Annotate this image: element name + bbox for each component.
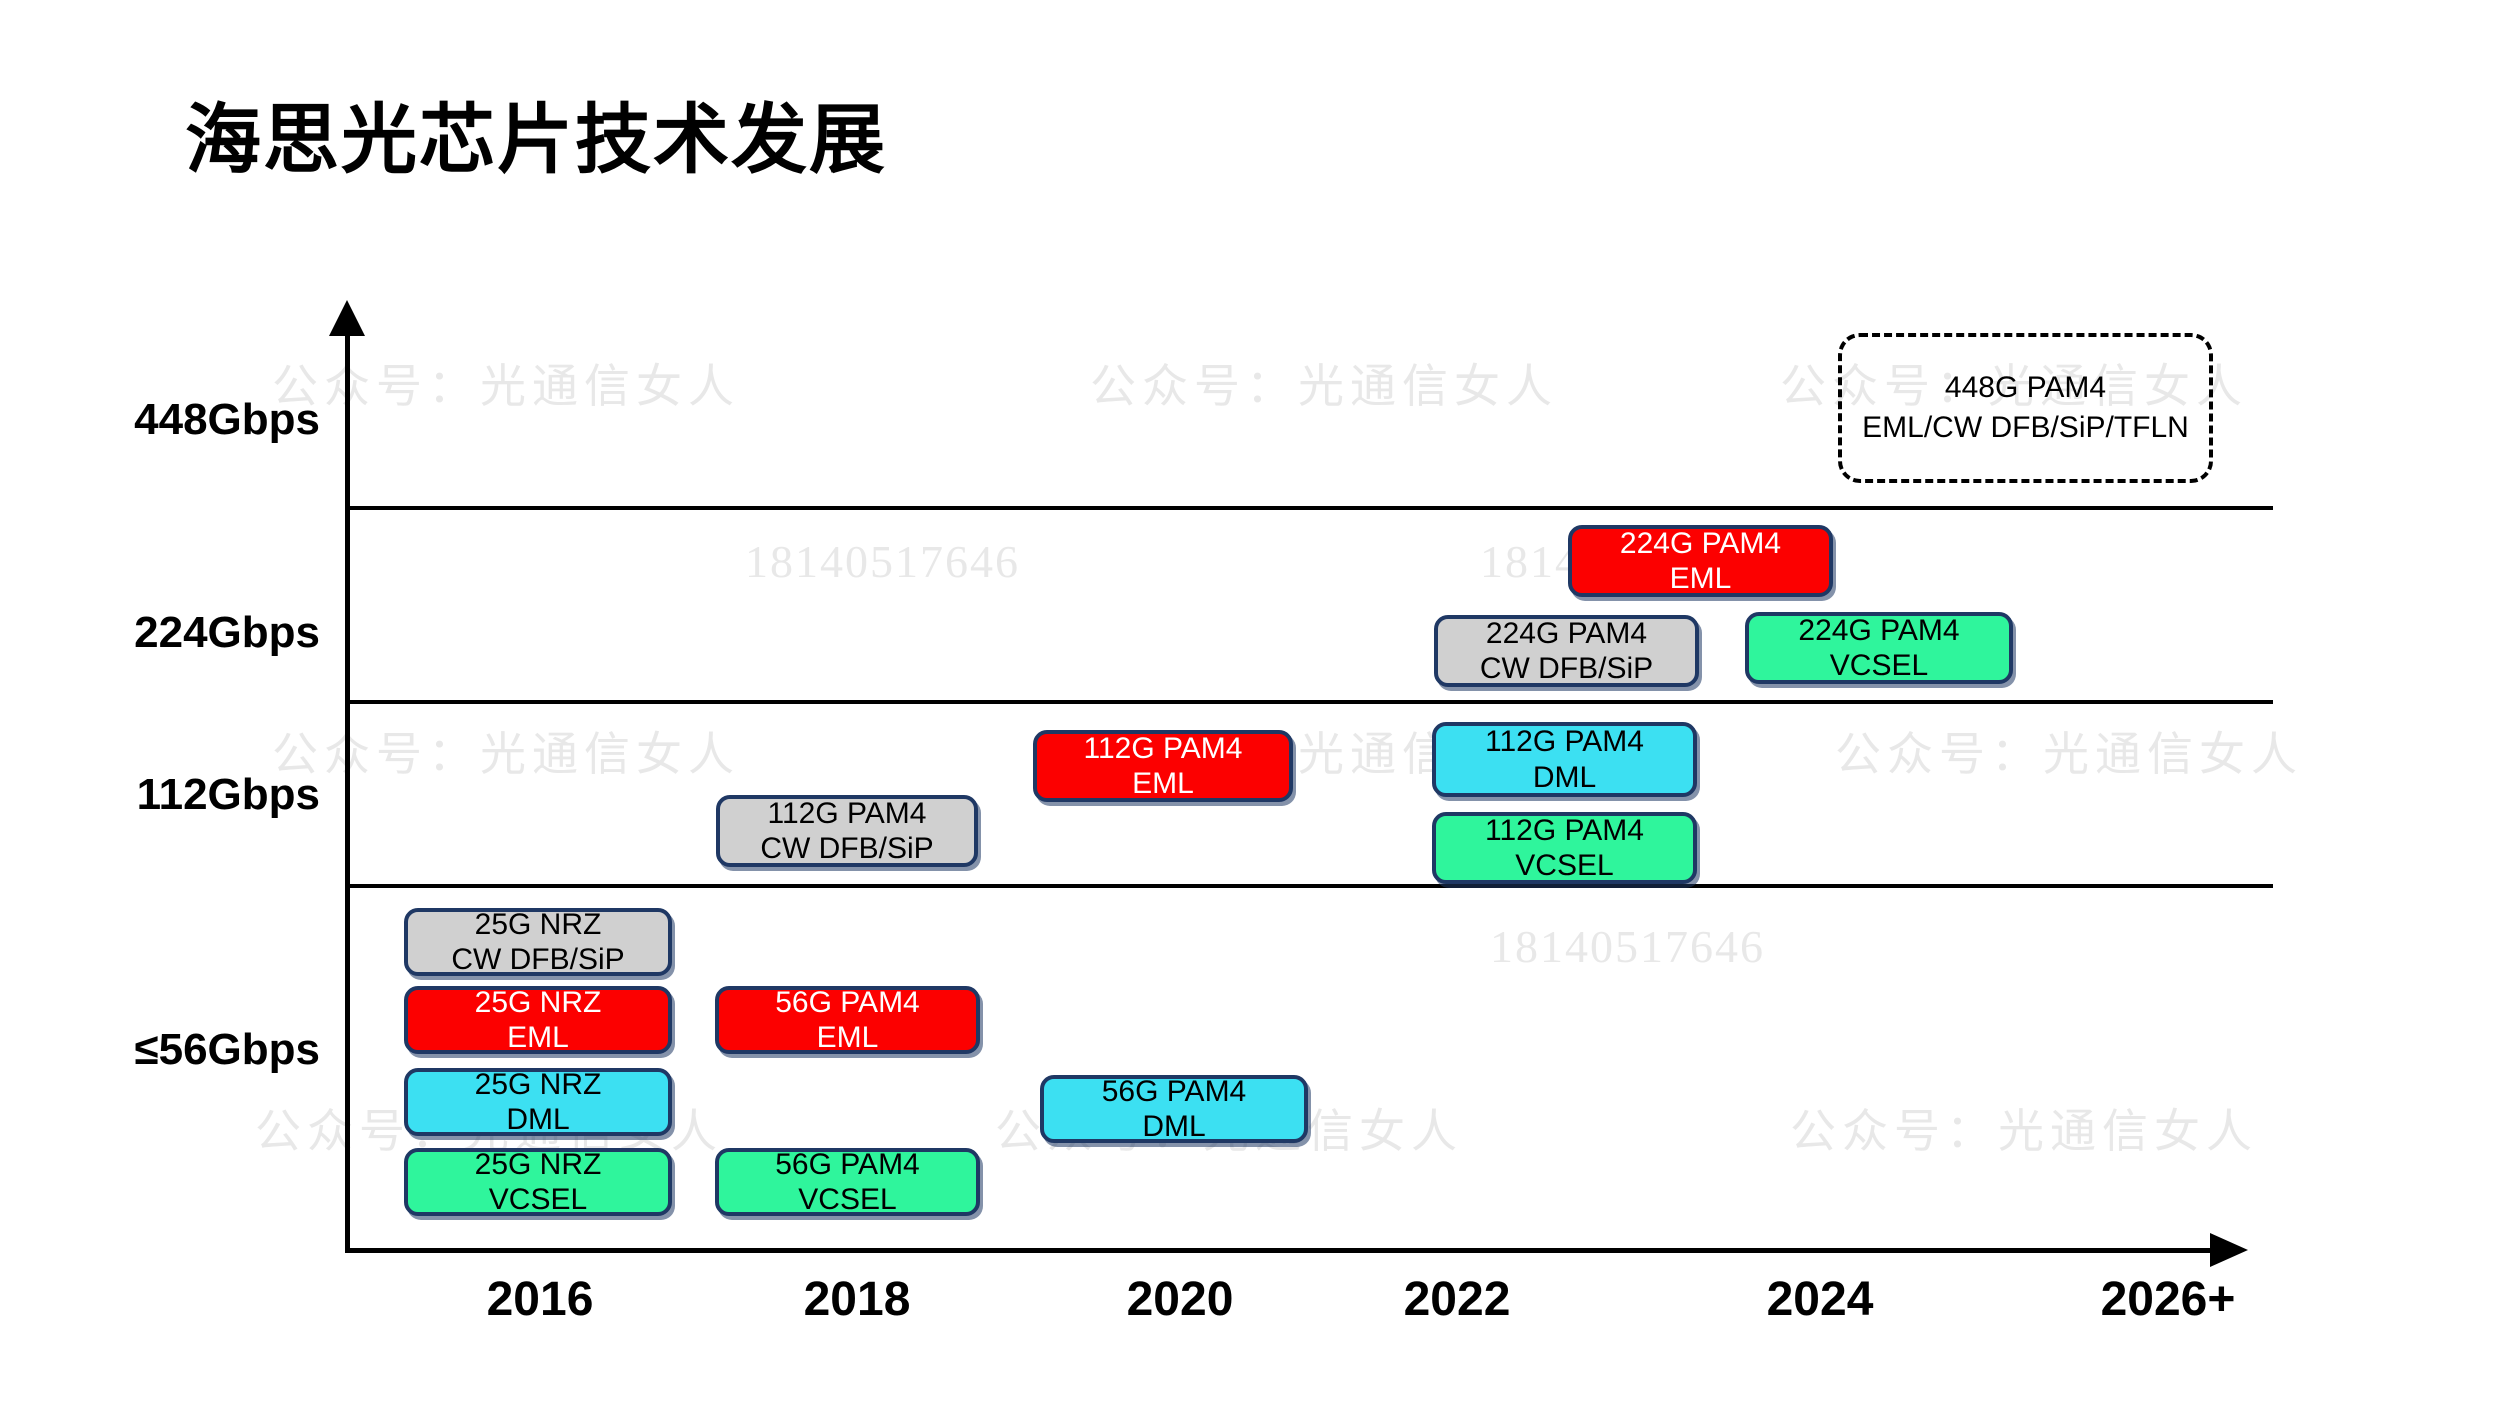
tech-box-line1: 448G PAM4 <box>1945 368 2106 409</box>
tech-box-line2: VCSEL <box>798 1182 896 1217</box>
tech-box-448g-pam4-future[interactable]: 448G PAM4 EML/CW DFB/SiP/TFLN <box>1838 333 2213 483</box>
watermark-text: 公众号：光通信女人 <box>1835 718 2303 784</box>
tech-box-line1: 25G NRZ <box>475 985 602 1020</box>
tech-box-112g-pam4-cw-dfb-sip[interactable]: 112G PAM4 CW DFB/SiP <box>716 795 978 867</box>
tech-box-line2: EML <box>1670 561 1732 596</box>
x-tick-2026: 2026+ <box>2048 1272 2288 1327</box>
tech-box-line1: 224G PAM4 <box>1486 616 1647 651</box>
watermark-text: 公众号：光通信女人 <box>272 718 740 784</box>
tech-box-56g-pam4-dml[interactable]: 56G PAM4 DML <box>1040 1075 1308 1143</box>
tech-box-112g-pam4-vcsel[interactable]: 112G PAM4 VCSEL <box>1432 812 1697 884</box>
tech-box-224g-pam4-cw-dfb-sip[interactable]: 224G PAM4 CW DFB/SiP <box>1434 615 1699 687</box>
roadmap-chart: 公众号：光通信女人 公众号：光通信女人 公众号：光通信女人 1814051764… <box>0 0 2500 1406</box>
tech-box-line1: 112G PAM4 <box>768 796 927 831</box>
tech-box-line2: DML <box>506 1102 569 1137</box>
tech-box-line2: DML <box>1142 1109 1205 1144</box>
y-axis-line <box>345 322 350 1252</box>
tech-box-line1: 112G PAM4 <box>1485 813 1644 848</box>
x-axis-line <box>345 1248 2215 1253</box>
tech-box-112g-pam4-eml[interactable]: 112G PAM4 EML <box>1033 730 1293 802</box>
tech-box-line1: 224G PAM4 <box>1798 613 1959 648</box>
x-tick-2024: 2024 <box>1700 1272 1940 1327</box>
tech-box-line2: DML <box>1533 760 1596 795</box>
tech-box-line1: 56G PAM4 <box>1102 1074 1247 1109</box>
x-tick-2020: 2020 <box>1060 1272 1300 1327</box>
y-tick-112gbps: 112Gbps <box>0 770 320 820</box>
tech-box-line1: 56G PAM4 <box>775 985 920 1020</box>
y-tick-56gbps: ≤56Gbps <box>0 1025 320 1075</box>
x-tick-2016: 2016 <box>420 1272 660 1327</box>
tech-box-25g-nrz-eml[interactable]: 25G NRZ EML <box>404 986 672 1054</box>
x-tick-2018: 2018 <box>737 1272 977 1327</box>
y-tick-224gbps: 224Gbps <box>0 608 320 658</box>
tech-box-224g-pam4-vcsel[interactable]: 224G PAM4 VCSEL <box>1745 612 2013 684</box>
tech-box-224g-pam4-eml[interactable]: 224G PAM4 EML <box>1568 525 1833 597</box>
tech-box-line2: CW DFB/SiP <box>451 942 624 977</box>
tech-box-line2: EML <box>507 1020 569 1055</box>
tech-box-56g-pam4-vcsel[interactable]: 56G PAM4 VCSEL <box>715 1148 980 1216</box>
watermark-text: 公众号：光通信女人 <box>1090 350 1558 416</box>
watermark-phone: 18140517646 <box>1490 920 1765 973</box>
tech-box-line1: 25G NRZ <box>475 1147 602 1182</box>
tech-box-25g-nrz-cw-dfb-sip[interactable]: 25G NRZ CW DFB/SiP <box>404 908 672 976</box>
watermark-text: 公众号：光通信女人 <box>1790 1095 2258 1161</box>
tech-box-112g-pam4-dml[interactable]: 112G PAM4 DML <box>1432 722 1697 797</box>
tech-box-25g-nrz-dml[interactable]: 25G NRZ DML <box>404 1068 672 1136</box>
band-divider-112-56 <box>348 884 2273 888</box>
tech-box-line2: VCSEL <box>1515 848 1613 883</box>
tech-box-line1: 112G PAM4 <box>1084 731 1243 766</box>
tech-box-56g-pam4-eml[interactable]: 56G PAM4 EML <box>715 986 980 1054</box>
page-title: 海思光芯片技术发展 <box>185 78 887 188</box>
watermark-phone: 18140517646 <box>745 535 1020 588</box>
tech-box-line1: 25G NRZ <box>475 907 602 942</box>
tech-box-line2: CW DFB/SiP <box>1480 651 1653 686</box>
tech-box-25g-nrz-vcsel[interactable]: 25G NRZ VCSEL <box>404 1148 672 1216</box>
tech-box-line1: 25G NRZ <box>475 1067 602 1102</box>
tech-box-line1: 224G PAM4 <box>1620 526 1781 561</box>
tech-box-line1: 56G PAM4 <box>775 1147 920 1182</box>
band-divider-448-224 <box>348 506 2273 510</box>
band-divider-224-112 <box>348 700 2273 704</box>
tech-box-line2: VCSEL <box>1830 648 1928 683</box>
tech-box-line2: EML <box>1132 766 1194 801</box>
tech-box-line2: VCSEL <box>489 1182 587 1217</box>
tech-box-line1: 112G PAM4 <box>1485 724 1644 759</box>
tech-box-line2: CW DFB/SiP <box>760 831 933 866</box>
x-axis-arrow-icon <box>2210 1233 2248 1267</box>
watermark-text: 公众号：光通信女人 <box>272 350 740 416</box>
x-tick-2022: 2022 <box>1337 1272 1577 1327</box>
tech-box-line2: EML/CW DFB/SiP/TFLN <box>1862 408 2189 449</box>
y-tick-448gbps: 448Gbps <box>0 395 320 445</box>
tech-box-line2: EML <box>817 1020 879 1055</box>
